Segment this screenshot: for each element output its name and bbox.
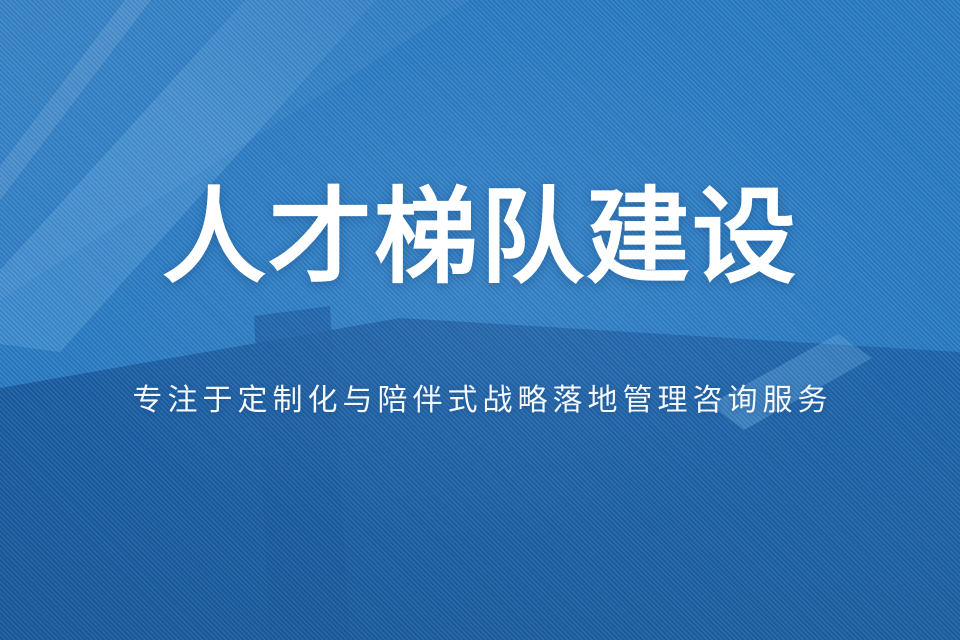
banner-text-group: 人才梯队建设 专注于定制化与陪伴式战略落地管理咨询服务 [0, 0, 960, 640]
promo-banner: 人才梯队建设 专注于定制化与陪伴式战略落地管理咨询服务 [0, 0, 960, 640]
banner-subheadline: 专注于定制化与陪伴式战略落地管理咨询服务 [0, 382, 960, 420]
banner-headline: 人才梯队建设 [0, 182, 960, 294]
